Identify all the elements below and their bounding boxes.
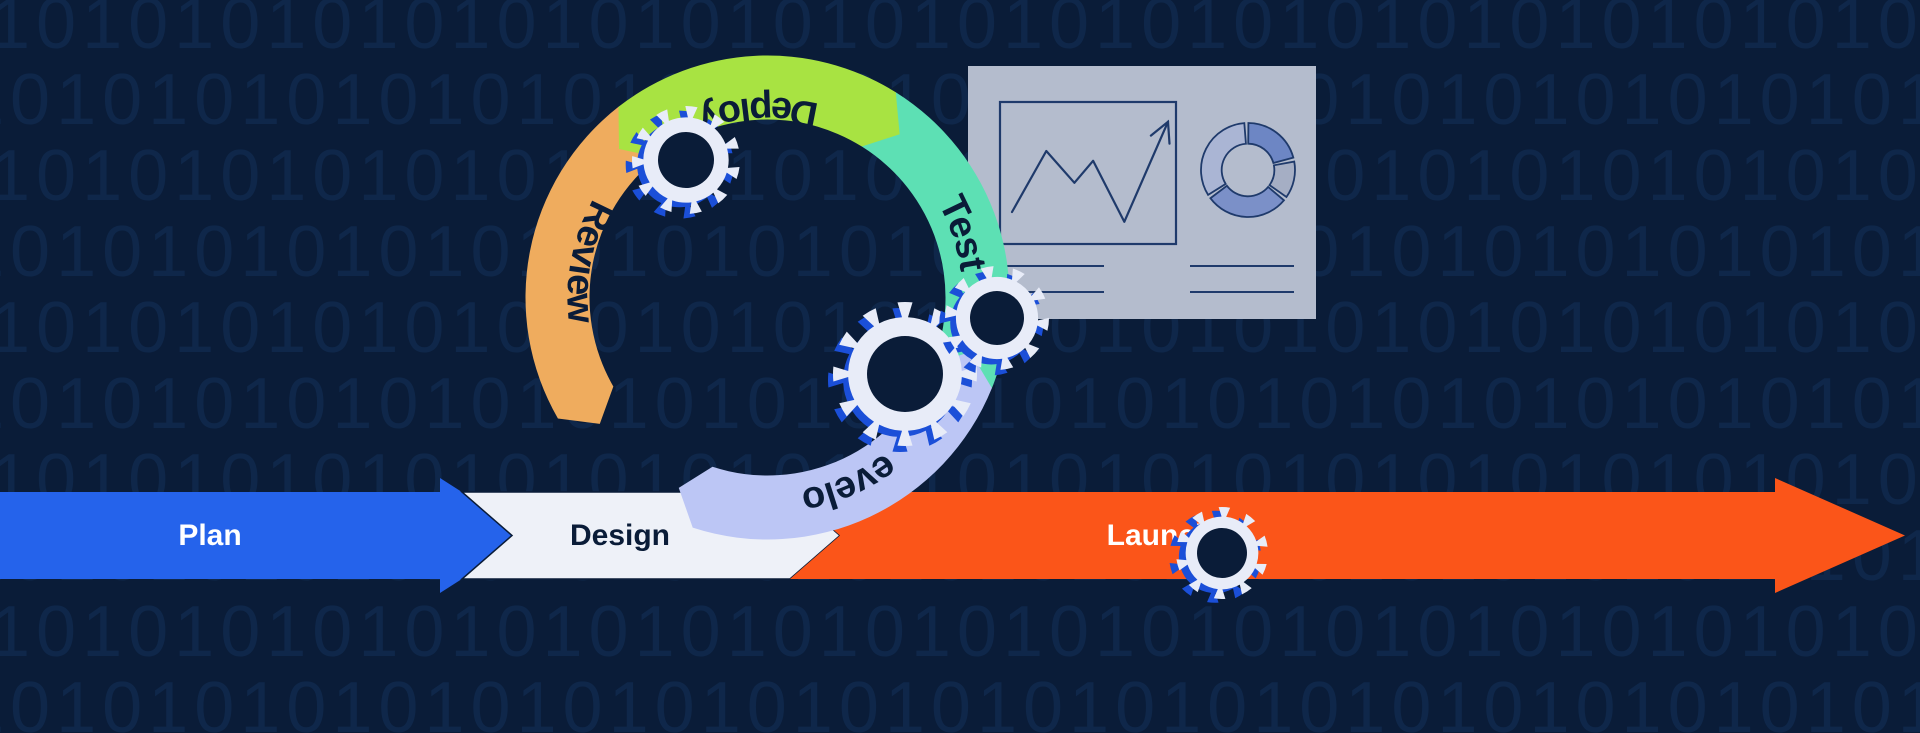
gear-deploy-icon <box>615 94 751 232</box>
gear-develop-icon <box>1156 493 1281 618</box>
gear-center-large-hub <box>867 336 943 412</box>
gear-cluster <box>0 0 1920 733</box>
infographic-canvas: 1010101010101010101010101010101010101010… <box>0 0 1920 733</box>
